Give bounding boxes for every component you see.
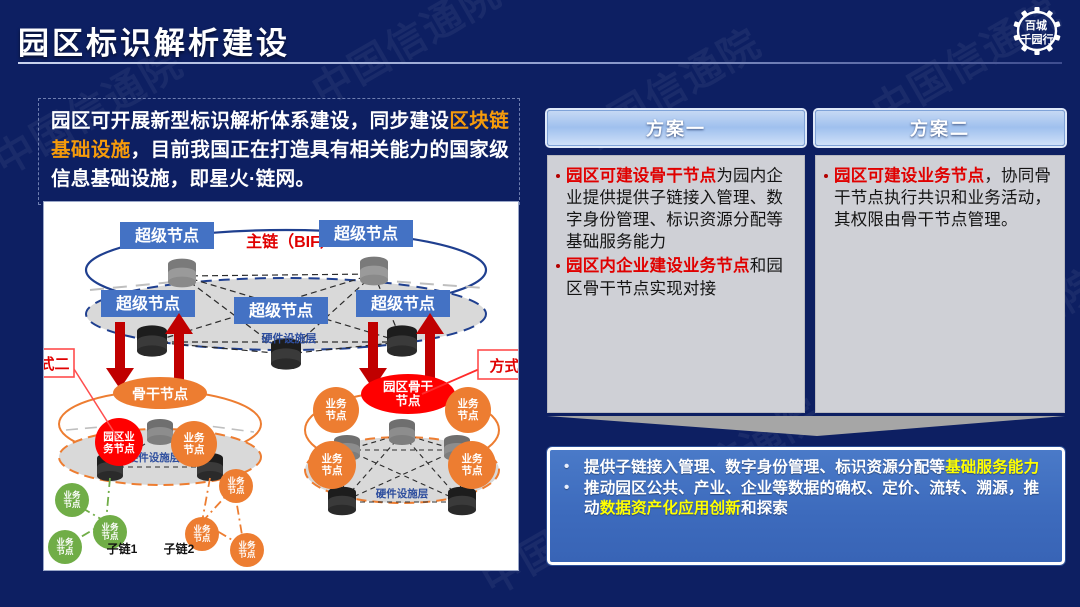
summary-emphasis: 基础服务能力 bbox=[945, 459, 1039, 476]
super-node-box: 超级节点 bbox=[120, 222, 214, 249]
super-node-box: 超级节点 bbox=[319, 220, 413, 247]
db-cylinder bbox=[448, 487, 476, 516]
scheme-one-panel: 方案一 园区可建设骨干节点为园内企业提供提供子链接入管理、数字身份管理、标识资源… bbox=[547, 110, 805, 413]
mode-one-label: 方式一 bbox=[489, 357, 518, 375]
intro-box: 园区可开展新型标识解析体系建设，同步建设区块链基础设施，目前我国正在打造具有相关… bbox=[38, 98, 520, 205]
svg-text:节点: 节点 bbox=[101, 531, 119, 541]
db-cylinder bbox=[328, 487, 356, 516]
db-cylinder bbox=[387, 325, 417, 356]
park-business-node-line2: 务节点 bbox=[103, 442, 135, 455]
scheme-two-bullet-1: 园区可建设业务节点，协同骨干节点执行共识和业务活动，其权限由骨干节点管理。 bbox=[822, 165, 1056, 231]
scheme-two-header[interactable]: 方案二 bbox=[815, 110, 1065, 146]
business-node-line1: 业务 bbox=[184, 431, 205, 444]
super-node-box: 超级节点 bbox=[234, 297, 328, 324]
svg-text:节点: 节点 bbox=[56, 546, 74, 556]
scheme-two-body: 园区可建设业务节点，协同骨干节点执行共识和业务活动，其权限由骨干节点管理。 bbox=[815, 155, 1065, 413]
hardware-layer-label: 硬件设施层 bbox=[262, 331, 317, 345]
backbone-node-label: 骨干节点 bbox=[132, 386, 188, 402]
scheme-two-panel: 方案二 园区可建设业务节点，协同骨干节点执行共识和业务活动，其权限由骨干节点管理… bbox=[815, 110, 1065, 413]
svg-text:节点: 节点 bbox=[238, 549, 256, 559]
business-node: 业务 节点 bbox=[445, 387, 491, 433]
svg-text:业务: 业务 bbox=[458, 397, 479, 410]
park-business-node-line1: 园区业 bbox=[103, 430, 135, 443]
mode-two-label: 方式二 bbox=[44, 355, 70, 373]
svg-text:节点: 节点 bbox=[322, 464, 343, 477]
backbone-node: 骨干节点 bbox=[113, 377, 207, 409]
svg-text:节点: 节点 bbox=[458, 409, 479, 422]
summary-emphasis: 数据资产化应用创新 bbox=[600, 500, 741, 517]
super-node-label: 超级节点 bbox=[248, 301, 313, 320]
db-cylinder bbox=[137, 325, 167, 356]
logo-text-top: 百城 bbox=[1025, 18, 1047, 32]
svg-text:节点: 节点 bbox=[63, 499, 81, 509]
business-node: 业务 节点 bbox=[171, 421, 217, 467]
svg-text:业务: 业务 bbox=[462, 452, 483, 465]
super-node-label: 超级节点 bbox=[115, 294, 180, 313]
gear-logo: 百城 千园行 bbox=[1006, 4, 1068, 62]
intro-paragraph: 园区可开展新型标识解析体系建设，同步建设区块链基础设施，目前我国正在打造具有相关… bbox=[51, 107, 509, 194]
super-node-label: 超级节点 bbox=[134, 226, 199, 245]
svg-text:业务: 业务 bbox=[322, 452, 343, 465]
business-node: 业务 节点 bbox=[448, 441, 496, 489]
summary-pre: 提供子链接入管理、数字身份管理、标识资源分配等 bbox=[584, 459, 945, 476]
sub-node: 业务 节点 bbox=[230, 533, 264, 567]
slide-canvas: 中国信通院 中国信通院 中国信通院 中国信通院 中国信通院 中国信通院 中国信通… bbox=[0, 0, 1080, 607]
intro-part1: 园区可开展新型标识解析体系建设，同步建设 bbox=[51, 110, 449, 132]
svg-text:节点: 节点 bbox=[462, 464, 483, 477]
park-backbone-node: 园区骨干 节点 bbox=[361, 374, 455, 414]
business-node: 业务 节点 bbox=[313, 387, 359, 433]
scheme-two-title: 方案二 bbox=[910, 115, 970, 141]
park-business-node: 园区业 务节点 bbox=[95, 418, 143, 466]
business-node-line2: 节点 bbox=[184, 443, 205, 456]
db-cylinder bbox=[389, 419, 415, 445]
park-backbone-line2: 节点 bbox=[395, 393, 421, 408]
funnel-connector bbox=[547, 412, 1065, 444]
super-node-box: 超级节点 bbox=[101, 290, 195, 317]
page-title: 园区标识解析建设 bbox=[18, 18, 290, 63]
scheme-one-body: 园区可建设骨干节点为园内企业提供提供子链接入管理、数字身份管理、标识资源分配等基… bbox=[547, 155, 805, 413]
sub-node: 业务 节点 bbox=[48, 530, 82, 564]
svg-text:业务: 业务 bbox=[326, 397, 347, 410]
super-node-label: 超级节点 bbox=[370, 294, 435, 313]
business-node: 业务 节点 bbox=[308, 441, 356, 489]
super-node-label: 超级节点 bbox=[333, 224, 398, 243]
scheme-one-bullet-2: 园区内企业建设业务节点和园区骨干节点实现对接 bbox=[554, 255, 796, 299]
scheme-one-header[interactable]: 方案一 bbox=[547, 110, 805, 146]
svg-text:节点: 节点 bbox=[193, 533, 211, 543]
sub-node: 业务 节点 bbox=[55, 483, 89, 517]
scheme-one-bullet-1: 园区可建设骨干节点为园内企业提供提供子链接入管理、数字身份管理、标识资源分配等基… bbox=[554, 165, 796, 253]
architecture-diagram: 主链（BIF） 硬件设施层 超级节点 超级节点 超级节点 超级节点 超级节点 bbox=[44, 202, 518, 570]
sub-node: 业务 节点 bbox=[219, 469, 253, 503]
subchain2-label: 子链2 bbox=[164, 541, 195, 556]
logo-text-bottom: 千园行 bbox=[1021, 32, 1054, 46]
super-node-box: 超级节点 bbox=[356, 290, 450, 317]
db-cylinder bbox=[147, 419, 173, 445]
bullet-emphasis: 园区可建设业务节点 bbox=[834, 167, 984, 185]
title-divider bbox=[18, 62, 1062, 64]
svg-text:节点: 节点 bbox=[326, 409, 347, 422]
db-cylinder bbox=[360, 257, 388, 286]
hardware-layer-label: 硬件设施层 bbox=[376, 487, 429, 500]
bullet-emphasis: 园区可建设骨干节点 bbox=[566, 167, 716, 185]
summary-bullet-2: 推动园区公共、产业、企业等数据的确权、定价、流转、溯源，推动数据资产化应用创新和… bbox=[558, 479, 1052, 519]
db-cylinder bbox=[168, 259, 196, 288]
subchain1-label: 子链1 bbox=[107, 541, 138, 556]
scheme-one-title: 方案一 bbox=[646, 115, 706, 141]
summary-bullet-1: 提供子链接入管理、数字身份管理、标识资源分配等基础服务能力 bbox=[558, 458, 1052, 478]
summary-box: 提供子链接入管理、数字身份管理、标识资源分配等基础服务能力 推动园区公共、产业、… bbox=[547, 447, 1065, 565]
bullet-emphasis: 园区内企业建设业务节点 bbox=[566, 257, 750, 275]
svg-text:节点: 节点 bbox=[227, 485, 245, 495]
summary-post: 和探索 bbox=[741, 500, 788, 517]
